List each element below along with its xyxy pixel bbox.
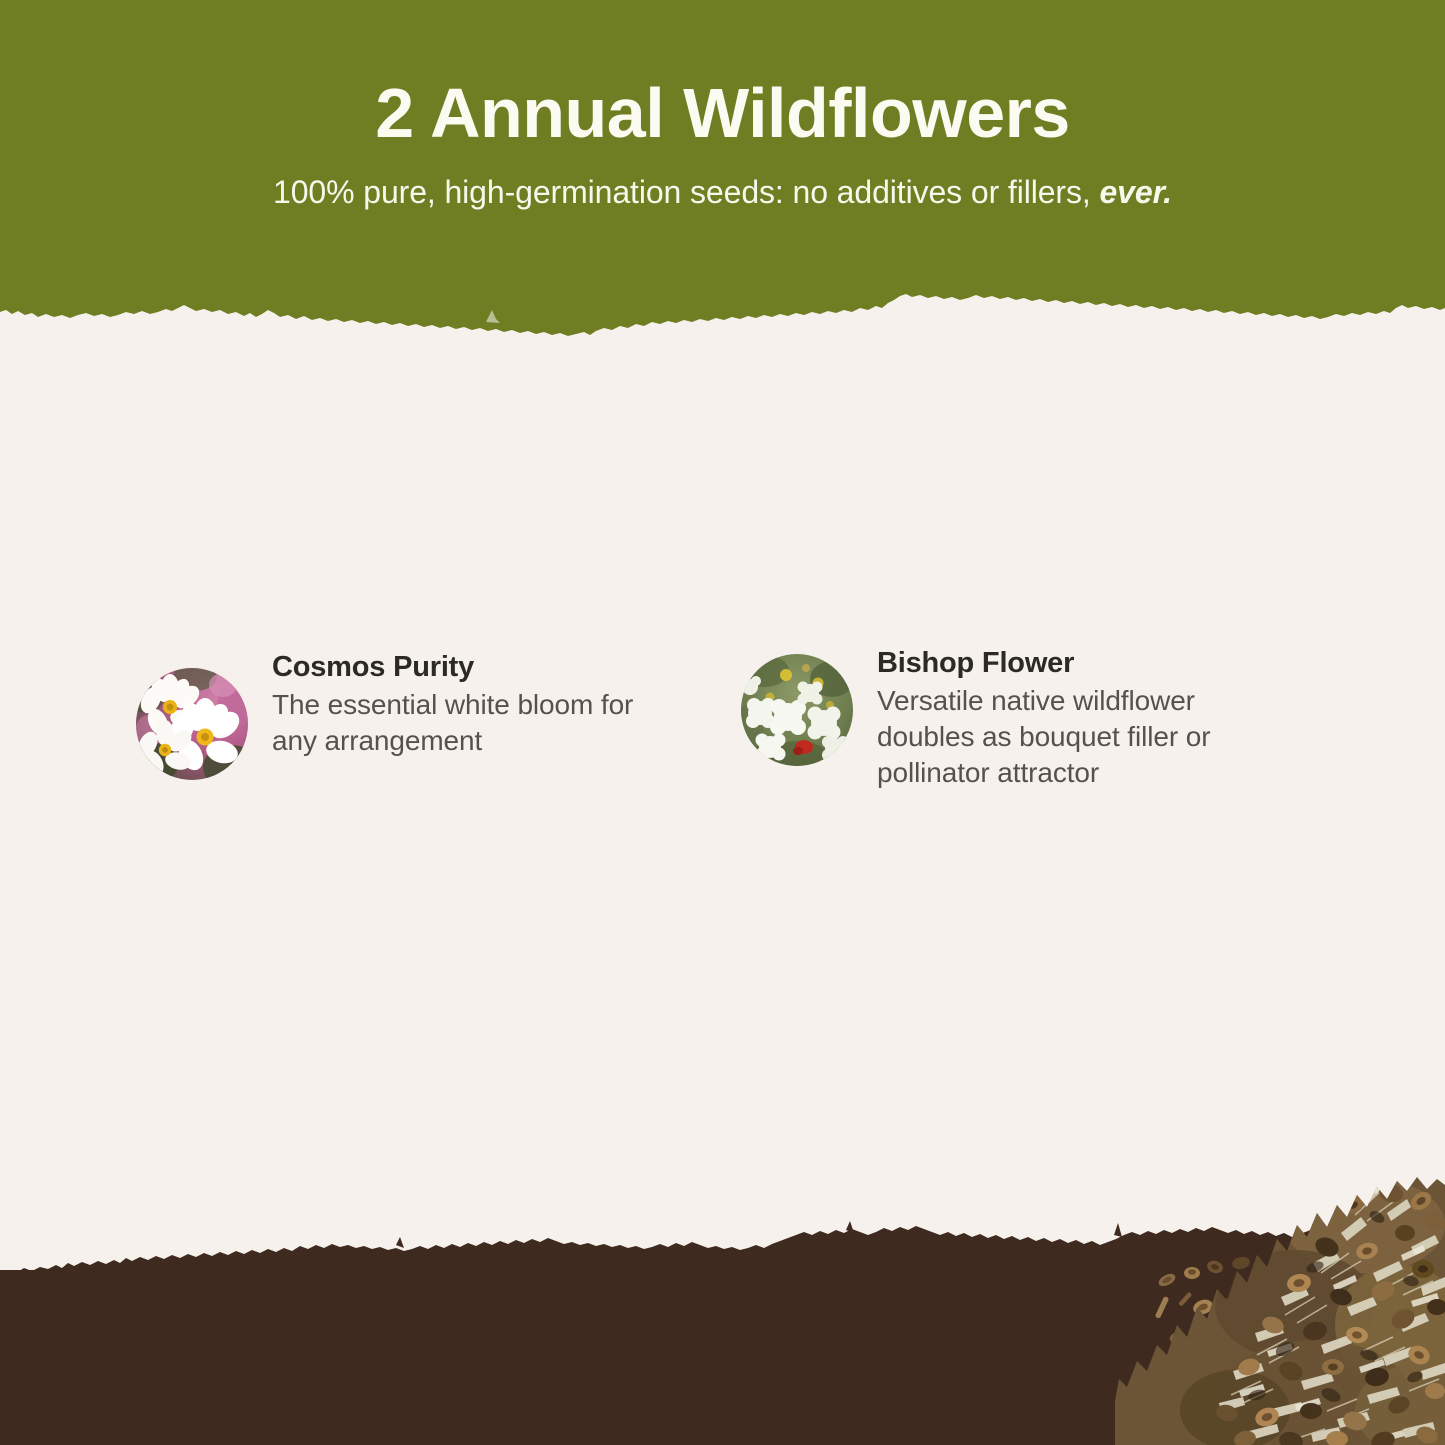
torn-paper-edge-bottom bbox=[0, 1215, 1445, 1290]
list-item: Cosmos Purity The essential white bloom … bbox=[135, 645, 745, 781]
subtitle-main-text: 100% pure, high-germination seeds: no ad… bbox=[273, 174, 1091, 210]
variety-name: Bishop Flower bbox=[877, 645, 1257, 681]
subtitle-emphasis-text: ever. bbox=[1099, 174, 1171, 210]
header-band: 2 Annual Wildflowers 100% pure, high-ger… bbox=[0, 0, 1445, 340]
soil-fill bbox=[0, 1270, 1445, 1445]
header-text-block: 2 Annual Wildflowers 100% pure, high-ger… bbox=[0, 0, 1445, 290]
cosmos-purity-thumbnail-icon bbox=[135, 667, 249, 781]
page-subtitle: 100% pure, high-germination seeds: no ad… bbox=[0, 174, 1445, 211]
product-infographic: 2 Annual Wildflowers 100% pure, high-ger… bbox=[0, 0, 1445, 1445]
main-content-area: Cosmos Purity The essential white bloom … bbox=[0, 340, 1445, 1300]
variety-description: Versatile native wildflower doubles as b… bbox=[877, 683, 1257, 790]
variety-copy: Bishop Flower Versatile native wildflowe… bbox=[877, 645, 1257, 791]
bishop-flower-thumbnail-icon bbox=[740, 653, 854, 767]
variety-copy: Cosmos Purity The essential white bloom … bbox=[272, 645, 652, 759]
variety-description: The essential white bloom for any arrang… bbox=[272, 687, 652, 759]
page-title: 2 Annual Wildflowers bbox=[0, 78, 1445, 148]
soil-band bbox=[0, 1215, 1445, 1445]
variety-name: Cosmos Purity bbox=[272, 649, 652, 685]
list-item: Bishop Flower Versatile native wildflowe… bbox=[740, 645, 1350, 791]
variety-list: Cosmos Purity The essential white bloom … bbox=[0, 645, 1445, 791]
